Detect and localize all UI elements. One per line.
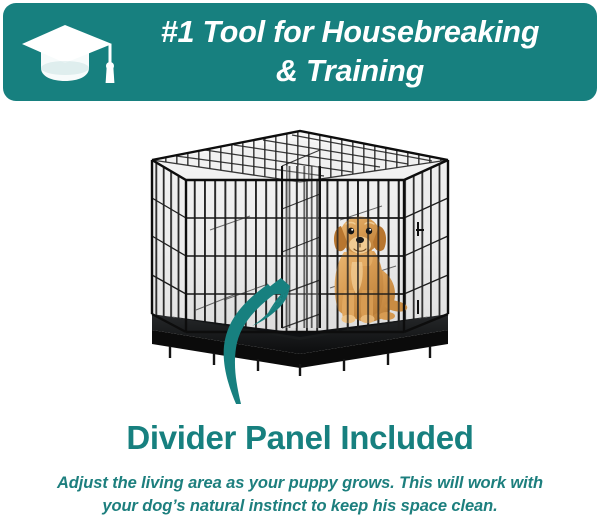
product-image bbox=[0, 104, 600, 404]
banner-title-line-2: & Training bbox=[276, 52, 424, 91]
banner-title: #1 Tool for Housebreaking & Training bbox=[115, 9, 585, 95]
graduation-cap-icon bbox=[19, 21, 117, 85]
header-banner: #1 Tool for Housebreaking & Training bbox=[3, 3, 597, 101]
footer-copy: Divider Panel Included Adjust the living… bbox=[0, 404, 600, 530]
dog-crate-illustration bbox=[0, 104, 600, 404]
footer-subcopy-line-2: your dog’s natural instinct to keep his … bbox=[0, 495, 600, 518]
divider-panel bbox=[282, 150, 320, 328]
footer-headline: Divider Panel Included bbox=[0, 404, 600, 458]
footer-subcopy: Adjust the living area as your puppy gro… bbox=[0, 458, 600, 518]
footer-subcopy-line-1: Adjust the living area as your puppy gro… bbox=[0, 472, 600, 495]
banner-title-line-1: #1 Tool for Housebreaking bbox=[161, 13, 540, 52]
